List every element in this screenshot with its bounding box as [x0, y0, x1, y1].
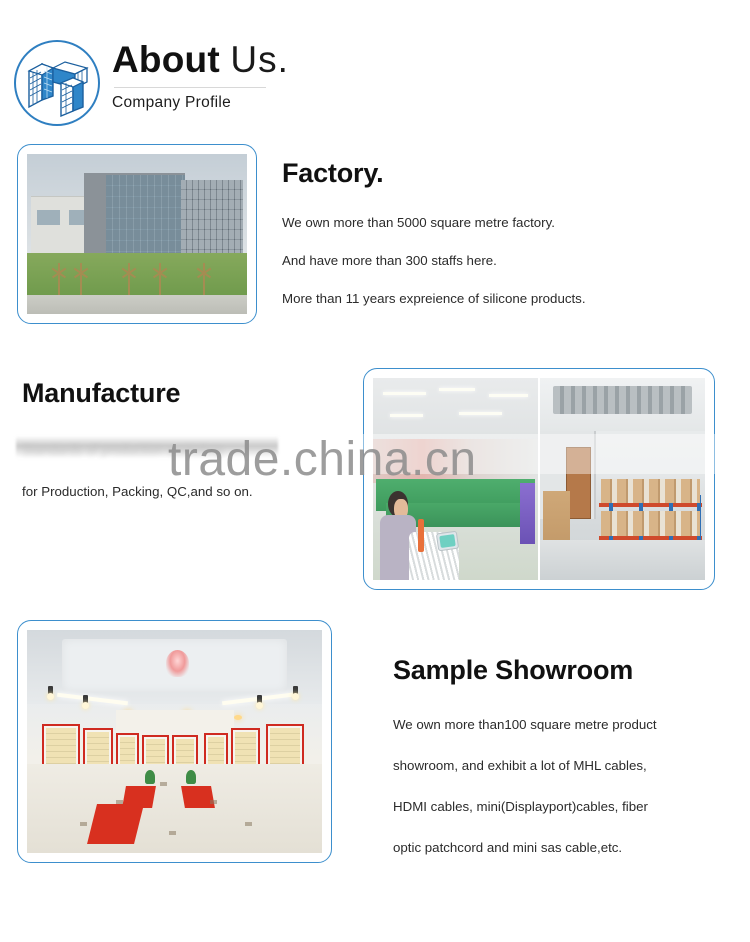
header-text-group: About Us. Company Profile: [112, 38, 442, 112]
header-divider: [114, 87, 266, 88]
sample-showroom-photo: [27, 630, 322, 853]
manufacture-photo-frame: [363, 368, 715, 590]
page-header: About Us. Company Profile: [0, 30, 750, 140]
factory-line-3: More than 11 years expreience of silicon…: [282, 291, 722, 306]
showroom-line-4: optic patchcord and mini sas cable,etc.: [393, 840, 733, 855]
page-subtitle: Company Profile: [112, 94, 442, 112]
warehouse-photo: [540, 378, 705, 580]
factory-heading: Factory.: [282, 158, 722, 189]
page-title-bold: About: [112, 39, 220, 80]
showroom-text-block: Sample Showroom We own more than100 squa…: [393, 655, 733, 881]
manufacture-line-2: for Production, Packing, QC,and so on.: [22, 484, 367, 499]
page-title: About Us.: [112, 38, 442, 82]
about-us-page: About Us. Company Profile: [0, 0, 750, 942]
showroom-line-2: showroom, and exhibit a lot of MHL cable…: [393, 758, 733, 773]
showroom-line-3: HDMI cables, mini(Displayport)cables, fi…: [393, 799, 733, 814]
factory-building-photo: [27, 154, 247, 314]
manufacture-line-1-blurred: Standards of production workshop: [22, 442, 367, 468]
workshop-photo: [373, 378, 538, 580]
factory-text-block: Factory. We own more than 5000 square me…: [282, 158, 722, 329]
manufacture-heading: Manufacture: [22, 378, 367, 409]
manufacture-text-block: Manufacture Standards of production work…: [22, 378, 367, 499]
factory-line-1: We own more than 5000 square metre facto…: [282, 215, 722, 230]
manufacture-photo-pair: [373, 378, 705, 580]
buildings-icon: [14, 40, 100, 126]
factory-line-2: And have more than 300 staffs here.: [282, 253, 722, 268]
page-title-light: Us.: [230, 39, 289, 80]
showroom-photo-frame: [17, 620, 332, 863]
factory-photo-frame: [17, 144, 257, 324]
showroom-line-1: We own more than100 square metre product: [393, 717, 733, 732]
showroom-heading: Sample Showroom: [393, 655, 733, 686]
blur-smear-overlay: [16, 436, 278, 458]
